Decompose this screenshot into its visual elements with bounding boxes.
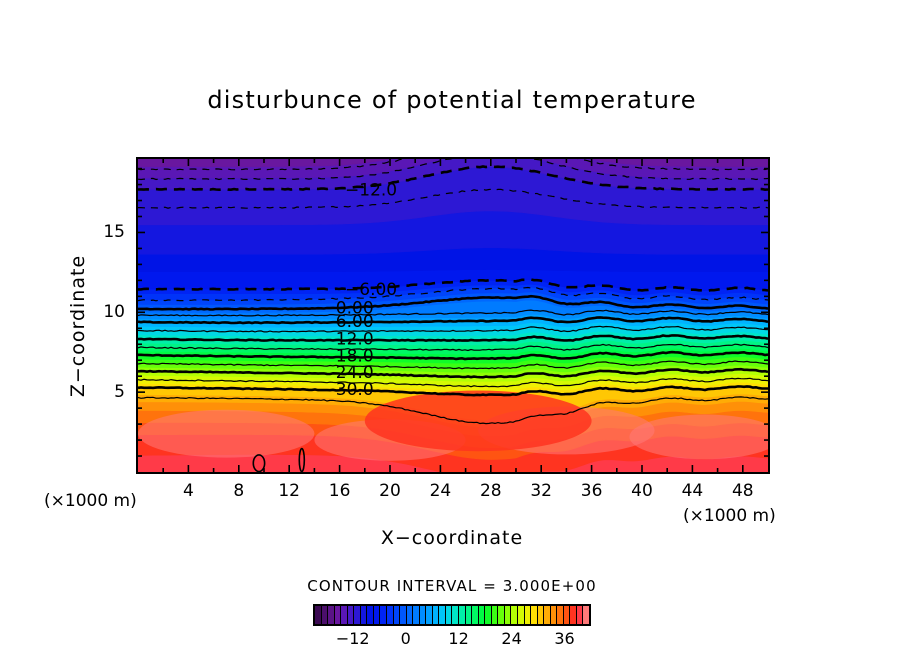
colorbar-tick--12: −12 <box>336 629 370 648</box>
y-tick-10: 10 <box>85 302 125 322</box>
y-tick-15: 15 <box>85 222 125 242</box>
contour-plot-area: −12.0−6.000.006.0012.018.024.030.0 <box>136 157 770 474</box>
x-units-label-right: (×1000 m) <box>683 506 776 526</box>
contour-interval-label: CONTOUR INTERVAL = 3.000E+00 <box>0 577 904 595</box>
x-tick-20: 20 <box>379 481 401 501</box>
x-tick-48: 48 <box>732 481 754 501</box>
x-tick-24: 24 <box>430 481 452 501</box>
colorbar <box>313 604 591 626</box>
warm-blotch <box>138 410 314 458</box>
colorbar-tick-labels: −120122436 <box>313 629 591 651</box>
page-title: disturbunce of potential temperature <box>0 86 904 114</box>
x-tick-32: 32 <box>530 481 552 501</box>
contour-label: −12.0 <box>345 180 397 200</box>
x-tick-44: 44 <box>682 481 704 501</box>
figure-root: disturbunce of potential temperature −12… <box>0 0 904 654</box>
colorbar-tick-0: 0 <box>401 629 411 648</box>
y-axis-title: Z−coordinate <box>67 226 89 426</box>
x-tick-40: 40 <box>631 481 653 501</box>
colorbar-tick-36: 36 <box>554 629 574 648</box>
x-tick-36: 36 <box>581 481 603 501</box>
contour-field-svg: −12.0−6.000.006.0012.018.024.030.0 <box>138 159 768 472</box>
x-tick-8: 8 <box>233 481 244 501</box>
colorbar-tick-24: 24 <box>501 629 521 648</box>
cool-core <box>365 391 592 452</box>
x-tick-28: 28 <box>480 481 502 501</box>
x-tick-16: 16 <box>329 481 351 501</box>
contour-label: −6.00 <box>345 280 397 300</box>
x-units-label-left: (×1000 m) <box>44 491 137 511</box>
x-tick-12: 12 <box>278 481 300 501</box>
colorbar-cell <box>583 606 589 624</box>
x-tick-4: 4 <box>183 481 194 501</box>
y-tick-5: 5 <box>85 382 125 402</box>
x-axis-title: X−coordinate <box>0 527 904 549</box>
colorbar-tick-12: 12 <box>448 629 468 648</box>
contour-label: 30.0 <box>336 380 374 400</box>
